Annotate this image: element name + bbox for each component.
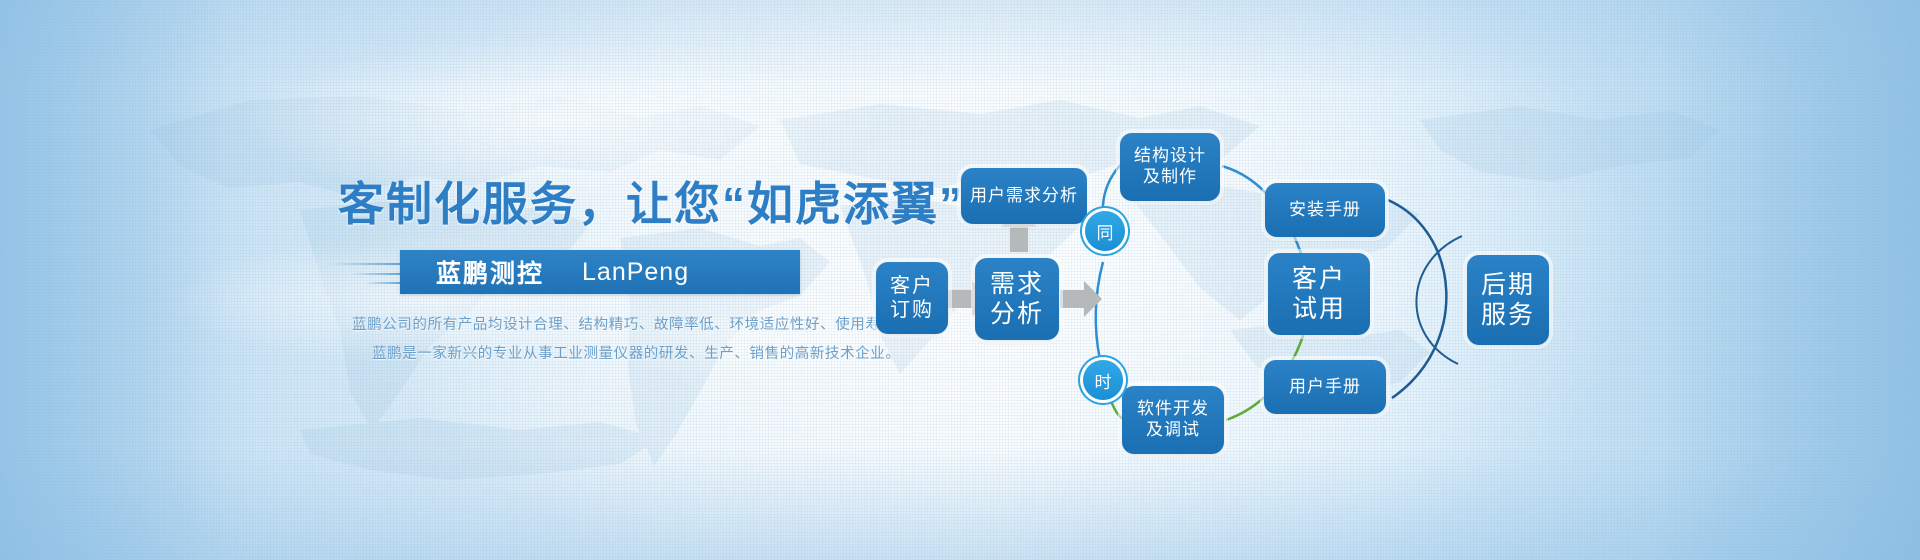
brand-bar: 蓝鹏测控 LanPeng	[400, 250, 800, 294]
arrow-order-to-analysis	[948, 290, 974, 308]
brand-name-en: LanPeng	[582, 258, 689, 287]
flow-node-structural-design[interactable]: 结构设计及制作	[1120, 133, 1220, 201]
world-map-背景	[0, 0, 1920, 560]
flow-node-user-manual[interactable]: 用户手册	[1264, 360, 1386, 414]
brand-accent-line-1	[330, 263, 400, 265]
customization-service-banner: 客制化服务，让您“如虎添翼” 蓝鹏测控 LanPeng 蓝鹏公司的所有产品均设计…	[0, 0, 1920, 560]
flow-node-requirement-analysis[interactable]: 需求分析	[975, 258, 1059, 340]
flow-node-installation-manual[interactable]: 安装手册	[1265, 183, 1385, 237]
flow-node-software-development[interactable]: 软件开发及调试	[1122, 386, 1224, 454]
flow-node-customer-trial[interactable]: 客户试用	[1268, 253, 1370, 335]
edge-vignette	[0, 0, 1920, 560]
arrow-analysis-to-user-req	[1010, 226, 1028, 252]
badge-simultaneous-tong: 同	[1085, 211, 1125, 251]
brand-name-cn: 蓝鹏测控	[436, 254, 544, 290]
flow-node-user-requirement-analysis[interactable]: 用户需求分析	[961, 168, 1087, 224]
brand-accent-line-2	[350, 273, 400, 275]
cloud-overlay	[0, 0, 1920, 560]
page-title: 客制化服务，让您“如虎添翼”	[338, 168, 964, 234]
badge-simultaneous-shi: 时	[1083, 360, 1123, 400]
flow-node-customer-order[interactable]: 客户订购	[876, 262, 948, 334]
arrow-analysis-to-branch	[1060, 290, 1086, 308]
flow-node-after-sales-service[interactable]: 后期服务	[1467, 255, 1549, 345]
description-line-2: 蓝鹏是一家新兴的专业从事工业测量仪器的研发、生产、销售的高新技术企业。	[372, 342, 901, 363]
mesh-texture-overlay	[0, 0, 1920, 560]
brand-accent-line-3	[365, 282, 400, 284]
flow-connectors	[0, 0, 1920, 560]
description-line-1: 蓝鹏公司的所有产品均设计合理、结构精巧、故障率低、环境适应性好、使用寿命长。	[352, 313, 926, 334]
